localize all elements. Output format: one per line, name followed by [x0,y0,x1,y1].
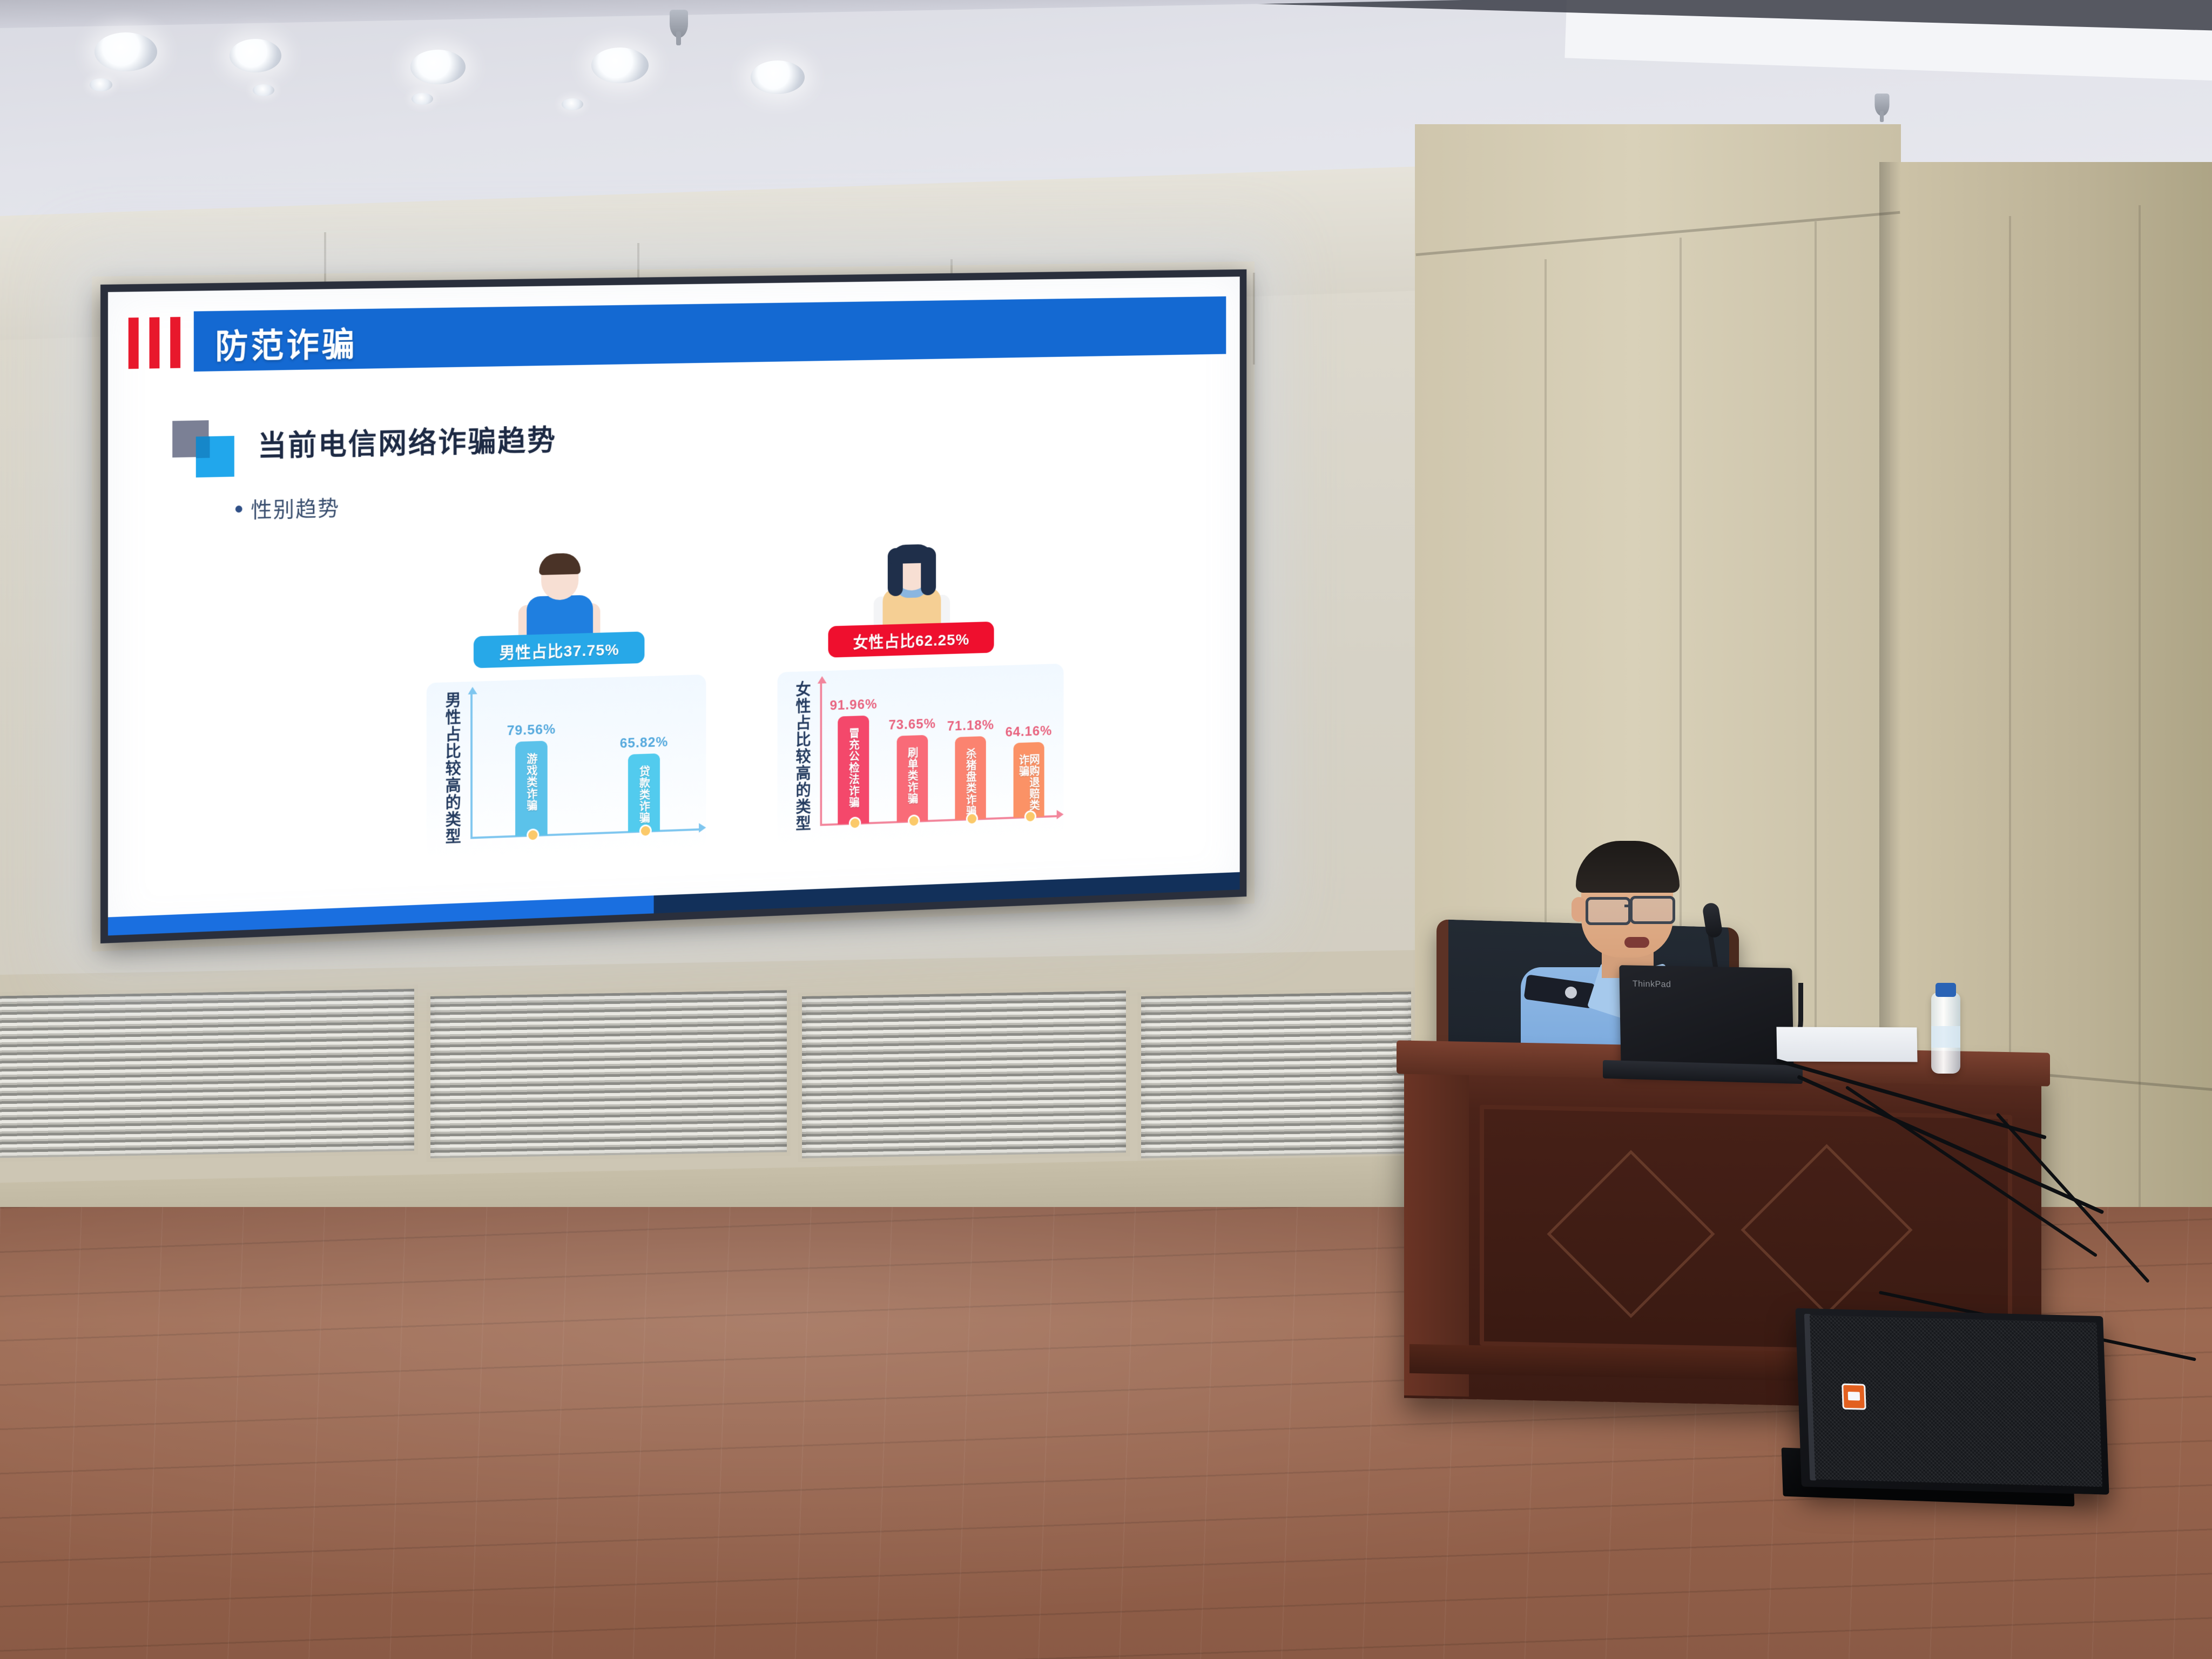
bar-base-dot-icon [966,812,978,825]
conference-room-scene: 防范诈骗 当前电信网络诈骗趋势 性别趋势 [0,0,2212,1659]
bullet-item: 性别趋势 [235,491,340,524]
speaker-brand-badge-icon [1843,1385,1864,1408]
slide-header: 防范诈骗 [108,296,1240,377]
y-axis-arrow-icon [468,687,477,694]
presentation-slide: 防范诈骗 当前电信网络诈骗趋势 性别趋势 [108,276,1240,935]
header-banner: 防范诈骗 [194,296,1226,372]
bar-base-dot-icon [849,817,861,829]
male-chart-axis-label: 男性占比较高的类型 [436,692,459,846]
x-axis-arrow-icon [699,823,706,833]
downlight-small-icon [90,78,112,91]
screen-bezel: 防范诈骗 当前电信网络诈骗趋势 性别趋势 [100,269,1246,943]
bar-category-label: 刷单类诈骗 [907,747,918,805]
gender-card-male: 男性占比37.75% [474,551,644,669]
sprinkler-head-icon [1874,93,1889,116]
header-accent-bars [129,317,180,369]
glasses-bridge-icon [1624,905,1632,907]
bar-value-label: 91.96% [829,696,877,714]
wall-grille-panel [427,986,791,1162]
bar-category-label: 冒充公检法诈骗 [848,727,859,808]
wall-panel-seam [1253,273,1255,365]
female-avatar-icon [868,543,954,634]
wall-grille-panel [798,987,1130,1162]
bullet-label: 性别趋势 [251,491,340,524]
bullet-dot-icon [235,505,242,512]
glasses-icon [1630,896,1675,924]
bar-column: 79.56%游戏类诈骗 [475,692,588,838]
downlight-icon [95,32,157,71]
gender-card-female: 女性占比62.25% [828,543,994,658]
bar-column: 64.16%网购退赔类诈骗 [1000,677,1057,818]
bar-base-dot-icon [1024,810,1036,823]
downlight-small-icon [562,98,583,110]
section-icon-square-overlap [196,436,210,458]
bar: 冒充公检法诈骗 [838,716,869,824]
wall-panel-seam [2139,205,2141,1318]
bar-column: 65.82%贷款类诈骗 [588,689,700,834]
downlight-small-icon [253,84,274,96]
water-bottle-cap [1935,983,1956,997]
downlight-icon [591,48,649,83]
bar: 贷款类诈骗 [628,753,660,832]
officer-hair [1576,841,1680,893]
laptop-brand-label: ThinkPad [1633,980,1671,990]
bar-value-label: 64.16% [1005,723,1052,740]
male-ratio-pill: 男性占比37.75% [474,631,644,668]
bar-value-label: 65.82% [620,733,669,751]
male-chart-bars: 79.56%游戏类诈骗65.82%贷款类诈骗 [475,689,700,838]
downlight-small-icon [412,93,433,105]
female-ratio-pill: 女性占比62.25% [828,622,994,658]
wall-grille-panel [1137,988,1415,1162]
bar: 杀猪盘类诈骗 [955,736,986,820]
bar-category-label: 游戏类诈骗 [526,753,537,812]
male-bar-chart: 男性占比较高的类型 79.56%游戏类诈骗65.82%贷款类诈骗 [427,675,706,859]
bar-column: 73.65%刷单类诈骗 [883,681,941,823]
officer-ear [1572,897,1587,922]
bar-value-label: 79.56% [507,721,556,739]
officer-mouth [1624,937,1649,948]
water-bottle-label [1931,1026,1960,1048]
floor-monitor-speaker [1795,1308,2109,1494]
bar-value-label: 71.18% [947,717,994,734]
bar-base-dot-icon [527,828,539,841]
downlight-icon [230,39,281,72]
bar-column: 91.96%冒充公检法诈骗 [824,683,883,825]
x-axis-arrow-icon [1057,810,1064,819]
bar-category-label: 贷款类诈骗 [638,765,649,824]
y-axis-arrow-icon [818,676,827,684]
bar: 刷单类诈骗 [896,735,928,822]
bar-category-label: 网购退赔类诈骗 [1019,754,1040,818]
female-bar-chart: 女性占比较高的类型 91.96%冒充公检法诈骗73.65%刷单类诈骗71.18%… [778,664,1064,846]
bar: 游戏类诈骗 [515,740,548,836]
papers-on-desk [1776,1027,1917,1062]
slide-title: 防范诈骗 [215,318,357,368]
bar-base-dot-icon [908,814,920,827]
female-chart-bars: 91.96%冒充公检法诈骗73.65%刷单类诈骗71.18%杀猪盘类诈骗64.1… [824,677,1057,825]
sprinkler-head-icon [670,10,688,38]
bar-value-label: 73.65% [888,716,936,733]
section-title: 当前电信网络诈骗趋势 [258,417,557,465]
bar: 网购退赔类诈骗 [1013,742,1044,818]
bar-column: 71.18%杀猪盘类诈骗 [941,679,1000,820]
downlight-icon [751,60,805,94]
downlight-icon [410,50,466,84]
laptop[interactable]: ThinkPad [1619,965,1793,1076]
male-avatar-icon [515,552,603,645]
bar-category-label: 杀猪盘类诈骗 [966,747,976,817]
female-chart-axis-label: 女性占比较高的类型 [787,681,809,833]
bar-base-dot-icon [639,824,652,837]
projection-screen[interactable]: 防范诈骗 当前电信网络诈骗趋势 性别趋势 [100,269,1246,943]
glasses-icon [1586,897,1631,925]
male-chart-y-axis [470,693,473,838]
wall-grille-panel [0,985,418,1162]
female-chart-y-axis [820,683,822,825]
